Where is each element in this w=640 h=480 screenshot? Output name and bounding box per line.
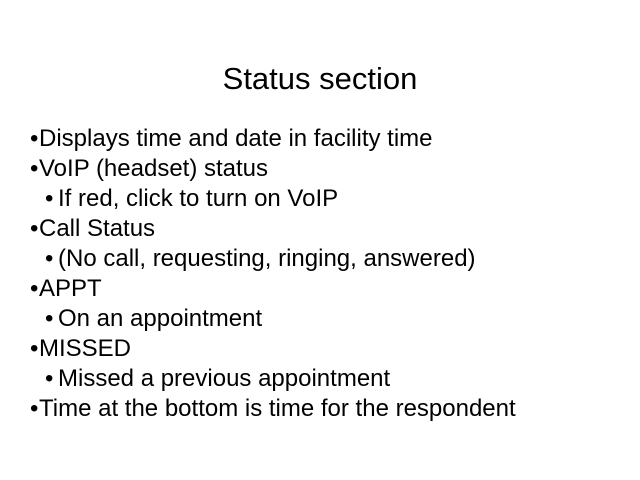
bullet-point-icon: • xyxy=(45,304,54,334)
bullet-point-icon: • xyxy=(45,244,54,274)
bullet-item: •VoIP (headset) status xyxy=(0,154,640,184)
bullet-point-icon: • xyxy=(45,184,54,214)
bullet-item: •APPT xyxy=(0,274,640,304)
bullet-item-label: Time at the bottom is time for the respo… xyxy=(39,394,516,424)
bullet-point-icon: • xyxy=(30,124,39,154)
bullet-item-label: (No call, requesting, ringing, answered) xyxy=(58,244,476,274)
bullet-point-icon: • xyxy=(30,154,39,184)
bullet-item-label: On an appointment xyxy=(58,304,262,334)
bullet-item: •If red, click to turn on VoIP xyxy=(0,184,640,214)
bullet-item: •(No call, requesting, ringing, answered… xyxy=(0,244,640,274)
bullet-item-label: APPT xyxy=(39,274,102,304)
bullet-list: •Displays time and date in facility time… xyxy=(0,124,640,424)
bullet-item: •Time at the bottom is time for the resp… xyxy=(0,394,640,424)
bullet-item: •MISSED xyxy=(0,334,640,364)
page-title: Status section xyxy=(0,61,640,97)
bullet-item-label: Displays time and date in facility time xyxy=(39,124,433,154)
bullet-point-icon: • xyxy=(30,214,39,244)
bullet-item-label: MISSED xyxy=(39,334,131,364)
bullet-point-icon: • xyxy=(30,274,39,304)
bullet-item-label: Call Status xyxy=(39,214,155,244)
bullet-point-icon: • xyxy=(45,364,54,394)
bullet-item: •On an appointment xyxy=(0,304,640,334)
bullet-item-label: VoIP (headset) status xyxy=(39,154,268,184)
bullet-item-label: Missed a previous appointment xyxy=(58,364,390,394)
bullet-item: •Displays time and date in facility time xyxy=(0,124,640,154)
bullet-point-icon: • xyxy=(30,394,39,424)
bullet-item: •Missed a previous appointment xyxy=(0,364,640,394)
bullet-point-icon: • xyxy=(30,334,39,364)
bullet-item: •Call Status xyxy=(0,214,640,244)
bullet-item-label: If red, click to turn on VoIP xyxy=(58,184,338,214)
presentation-slide: Status section •Displays time and date i… xyxy=(0,0,640,480)
